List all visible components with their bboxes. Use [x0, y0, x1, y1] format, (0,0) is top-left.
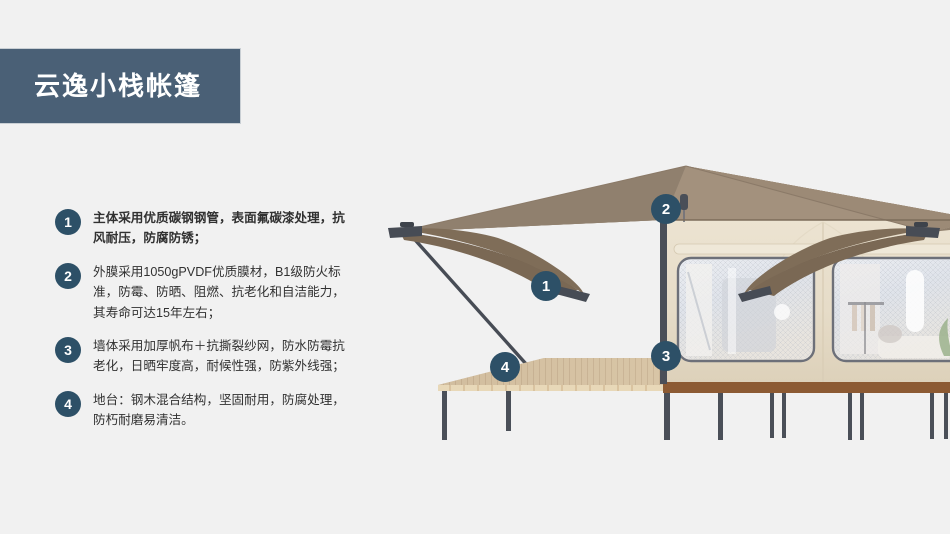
- callout-badge-1: 1: [531, 271, 561, 301]
- feature-text-4: 地台：钢木混合结构，坚固耐用，防腐处理，防朽耐磨易清洁。: [93, 390, 355, 431]
- deck-platform: [438, 358, 663, 440]
- callout-badge-2: 2: [651, 194, 681, 224]
- list-item: 2 外膜采用1050gPVDF优质膜材，B1级防火标准，防霉、防晒、阻燃、抗老化…: [55, 262, 355, 323]
- list-item: 1 主体采用优质碳钢钢管，表面氟碳漆处理，抗风耐压，防腐防锈；: [55, 208, 355, 249]
- feature-badge-1: 1: [55, 209, 81, 235]
- window-right: [833, 258, 950, 361]
- feature-badge-3: 3: [55, 337, 81, 363]
- page-title: 云逸小栈帐篷: [34, 73, 202, 99]
- feature-text-1: 主体采用优质碳钢钢管，表面氟碳漆处理，抗风耐压，防腐防锈；: [93, 208, 355, 249]
- list-item: 4 地台：钢木混合结构，坚固耐用，防腐处理，防朽耐磨易清洁。: [55, 390, 355, 431]
- callout-badge-4: 4: [490, 352, 520, 382]
- feature-list: 1 主体采用优质碳钢钢管，表面氟碳漆处理，抗风耐压，防腐防锈； 2 外膜采用10…: [55, 208, 355, 444]
- deck-leg-group: [442, 391, 511, 440]
- feature-text-3: 墙体采用加厚帆布＋抗撕裂纱网，防水防霉抗老化，日晒牢度高，耐候性强，防紫外线强；: [93, 336, 355, 377]
- list-item: 3 墙体采用加厚帆布＋抗撕裂纱网，防水防霉抗老化，日晒牢度高，耐候性强，防紫外线…: [55, 336, 355, 377]
- support-leg-group: [664, 393, 950, 440]
- title-banner: 云逸小栈帐篷: [0, 48, 241, 124]
- feature-badge-2: 2: [55, 263, 81, 289]
- presentation-slide: 云逸小栈帐篷 1 主体采用优质碳钢钢管，表面氟碳漆处理，抗风耐压，防腐防锈； 2…: [0, 0, 950, 534]
- callout-badge-3: 3: [651, 341, 681, 371]
- feature-badge-4: 4: [55, 391, 81, 417]
- feature-text-2: 外膜采用1050gPVDF优质膜材，B1级防火标准，防霉、防晒、阻燃、抗老化和自…: [93, 262, 355, 323]
